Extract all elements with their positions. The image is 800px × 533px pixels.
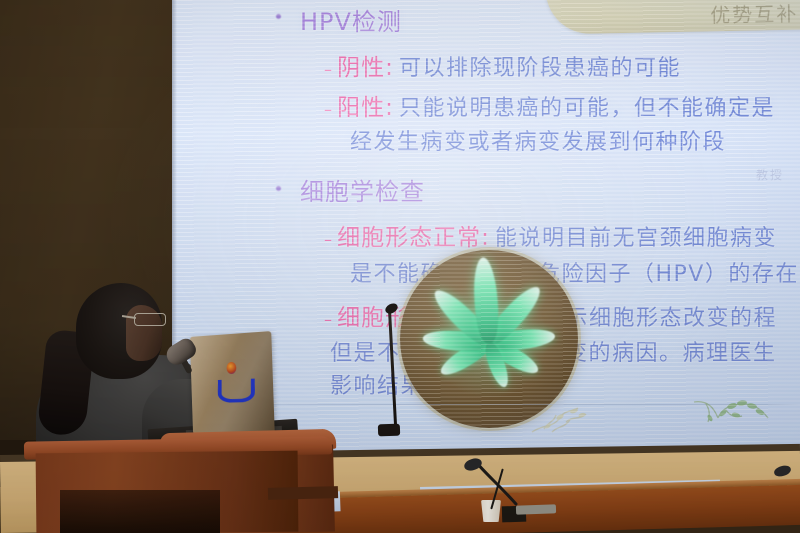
podium-step bbox=[268, 486, 338, 500]
open-laptop bbox=[190, 331, 275, 434]
slide-key-negative: 阴性: bbox=[337, 55, 394, 81]
slide-line-positive: – 阳性: 只能说明患癌的可能，但不能确定是 bbox=[324, 88, 775, 122]
slide-line-hpv-heading: HPV检测 bbox=[300, 2, 402, 37]
slide-line-normal-cont: 是不能确定是否有危险因子（HPV）的存在 bbox=[350, 256, 799, 288]
dash-marker: – bbox=[324, 310, 332, 329]
slide-key-positive: 阳性: bbox=[337, 95, 394, 121]
slide-body-positive: 只能说明患癌的可能，但不能确定是 bbox=[399, 96, 775, 121]
dash-marker: – bbox=[324, 60, 332, 79]
bullet-dot-icon bbox=[276, 14, 281, 19]
slide-line-normal-morphology: – 细胞形态正常: 能说明目前无宫颈细胞病变 bbox=[324, 218, 777, 252]
slide-line-cytology-heading: 细胞学检查 bbox=[300, 172, 425, 207]
glasses-icon bbox=[134, 313, 166, 326]
dash-marker: – bbox=[324, 230, 332, 249]
slide-body-negative: 可以排除现阶段患癌的可能 bbox=[399, 56, 681, 81]
dash-marker: – bbox=[324, 100, 332, 119]
floor-microphone-base bbox=[378, 424, 400, 437]
slide-body-normal-morphology: 能说明目前无宫颈细胞病变 bbox=[495, 226, 777, 251]
podium-shadow bbox=[60, 490, 220, 533]
laptop-logo-v-icon bbox=[218, 378, 255, 403]
slide-line-positive-cont: 经发生病变或者病变发展到何种阶段 bbox=[350, 124, 726, 156]
green-lily-photo bbox=[400, 250, 578, 428]
bullet-dot-icon bbox=[276, 186, 281, 191]
lecture-hall-photo: 优势互补 教授 HPV检测 – 阴性: 可以排除现阶段患癌的可能 – 阳性: 只… bbox=[0, 0, 800, 533]
slide-line-negative: – 阴性: 可以排除现阶段患癌的可能 bbox=[324, 48, 681, 82]
slide-key-normal-morphology: 细胞形态正常: bbox=[337, 225, 490, 251]
